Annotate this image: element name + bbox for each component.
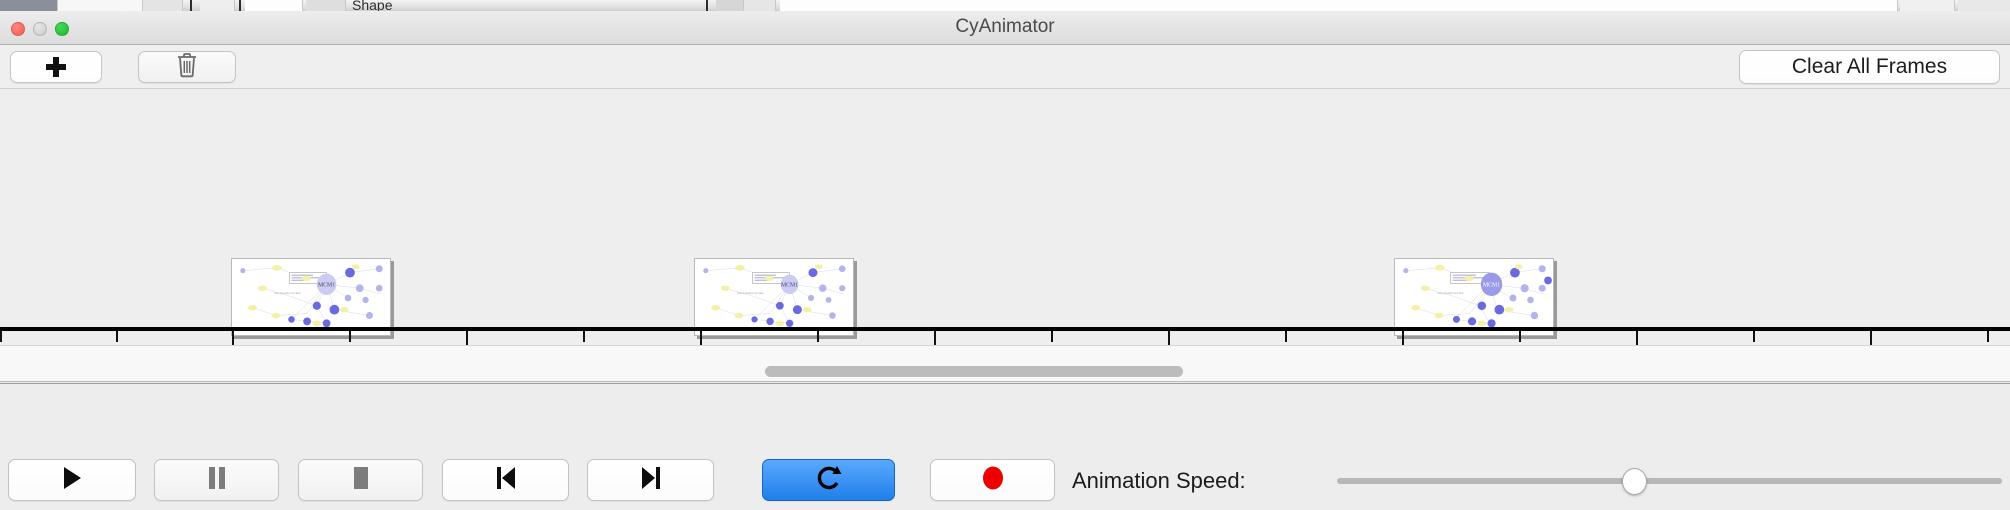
svg-text:MCM1: MCM1 [781, 282, 798, 288]
title-bar: CyAnimator [0, 11, 2010, 45]
slider-thumb[interactable] [1622, 468, 1647, 495]
horizontal-scrollbar-track[interactable] [0, 346, 2010, 382]
timeline-scroll-area[interactable] [0, 346, 2010, 382]
clear-all-frames-label: Clear All Frames [1792, 55, 1947, 79]
ruler-tick-minor [1753, 331, 1755, 342]
ruler-tick-major [700, 331, 702, 346]
ruler-tick-minor [817, 331, 819, 342]
record-button[interactable] [930, 459, 1055, 501]
stop-icon [350, 466, 372, 495]
play-icon [61, 466, 83, 495]
network-graph-preview: node annotation text label MCM1 [1395, 259, 1553, 335]
svg-text:node annotation text label: node annotation text label [1437, 292, 1464, 295]
ruler-tick-major [1168, 331, 1170, 346]
animation-speed-slider[interactable] [1337, 478, 2002, 484]
ruler-tick-major [1402, 331, 1404, 346]
ruler-tick-minor [1051, 331, 1053, 342]
horizontal-scrollbar-thumb[interactable] [765, 366, 1183, 377]
timeline-ruler [0, 327, 2010, 331]
svg-text:node annotation text label: node annotation text label [274, 292, 301, 295]
ruler-tick-major [934, 331, 936, 346]
window-title: CyAnimator [0, 16, 2010, 38]
skip-forward-button[interactable] [587, 459, 714, 501]
skip-back-icon [494, 466, 518, 495]
frame-thumbnail[interactable]: node annotation text label MCM1 [231, 258, 391, 336]
svg-text:node annotation text label: node annotation text label [737, 292, 764, 295]
record-icon [981, 465, 1005, 496]
frame-thumbnail[interactable]: node annotation text label MCM1 [1394, 258, 1554, 336]
network-graph-preview: node annotation text label MCM1 [232, 259, 390, 335]
playback-controls: Animation Speed: [0, 383, 2010, 510]
svg-text:MCM1: MCM1 [1483, 282, 1500, 288]
ruler-tick-minor [583, 331, 585, 342]
ruler-tick-major [1636, 331, 1638, 346]
svg-text:MCM1: MCM1 [318, 282, 335, 288]
ruler-tick-minor [349, 331, 351, 342]
ruler-tick-minor [1285, 331, 1287, 342]
slider-track[interactable] [1337, 478, 2002, 484]
skip-forward-icon [639, 466, 663, 495]
ruler-tick-minor [0, 331, 2, 342]
add-frame-button[interactable] [10, 51, 102, 83]
ruler-tick-major [1870, 331, 1872, 346]
loop-button[interactable] [762, 459, 895, 501]
pause-button[interactable] [154, 459, 279, 501]
pause-icon [207, 466, 227, 495]
stop-button[interactable] [298, 459, 423, 501]
play-button[interactable] [8, 459, 136, 501]
loop-icon [816, 464, 842, 497]
background-window-strip: Shape [0, 0, 2010, 11]
toolbar: Clear All Frames [0, 45, 2010, 89]
background-window-label: Shape [352, 0, 392, 11]
ruler-tick-minor [1519, 331, 1521, 342]
ruler-tick-major [232, 331, 234, 346]
network-graph-preview: node annotation text label MCM1 [695, 259, 853, 335]
animation-speed-label: Animation Speed: [1072, 468, 1246, 494]
ruler-tick-major [466, 331, 468, 346]
clear-all-frames-button[interactable]: Clear All Frames [1739, 50, 2000, 84]
plus-icon [46, 57, 66, 77]
ruler-tick-minor [1987, 331, 1989, 342]
trash-icon [175, 52, 199, 83]
frame-thumbnail[interactable]: node annotation text label MCM1 [694, 258, 854, 336]
ruler-tick-minor [116, 331, 118, 342]
cyanimator-window: Shape CyAnimator [0, 0, 2010, 510]
skip-back-button[interactable] [442, 459, 569, 501]
delete-frame-button[interactable] [138, 51, 236, 83]
timeline-panel[interactable]: node annotation text label MCM1 [0, 89, 2010, 346]
